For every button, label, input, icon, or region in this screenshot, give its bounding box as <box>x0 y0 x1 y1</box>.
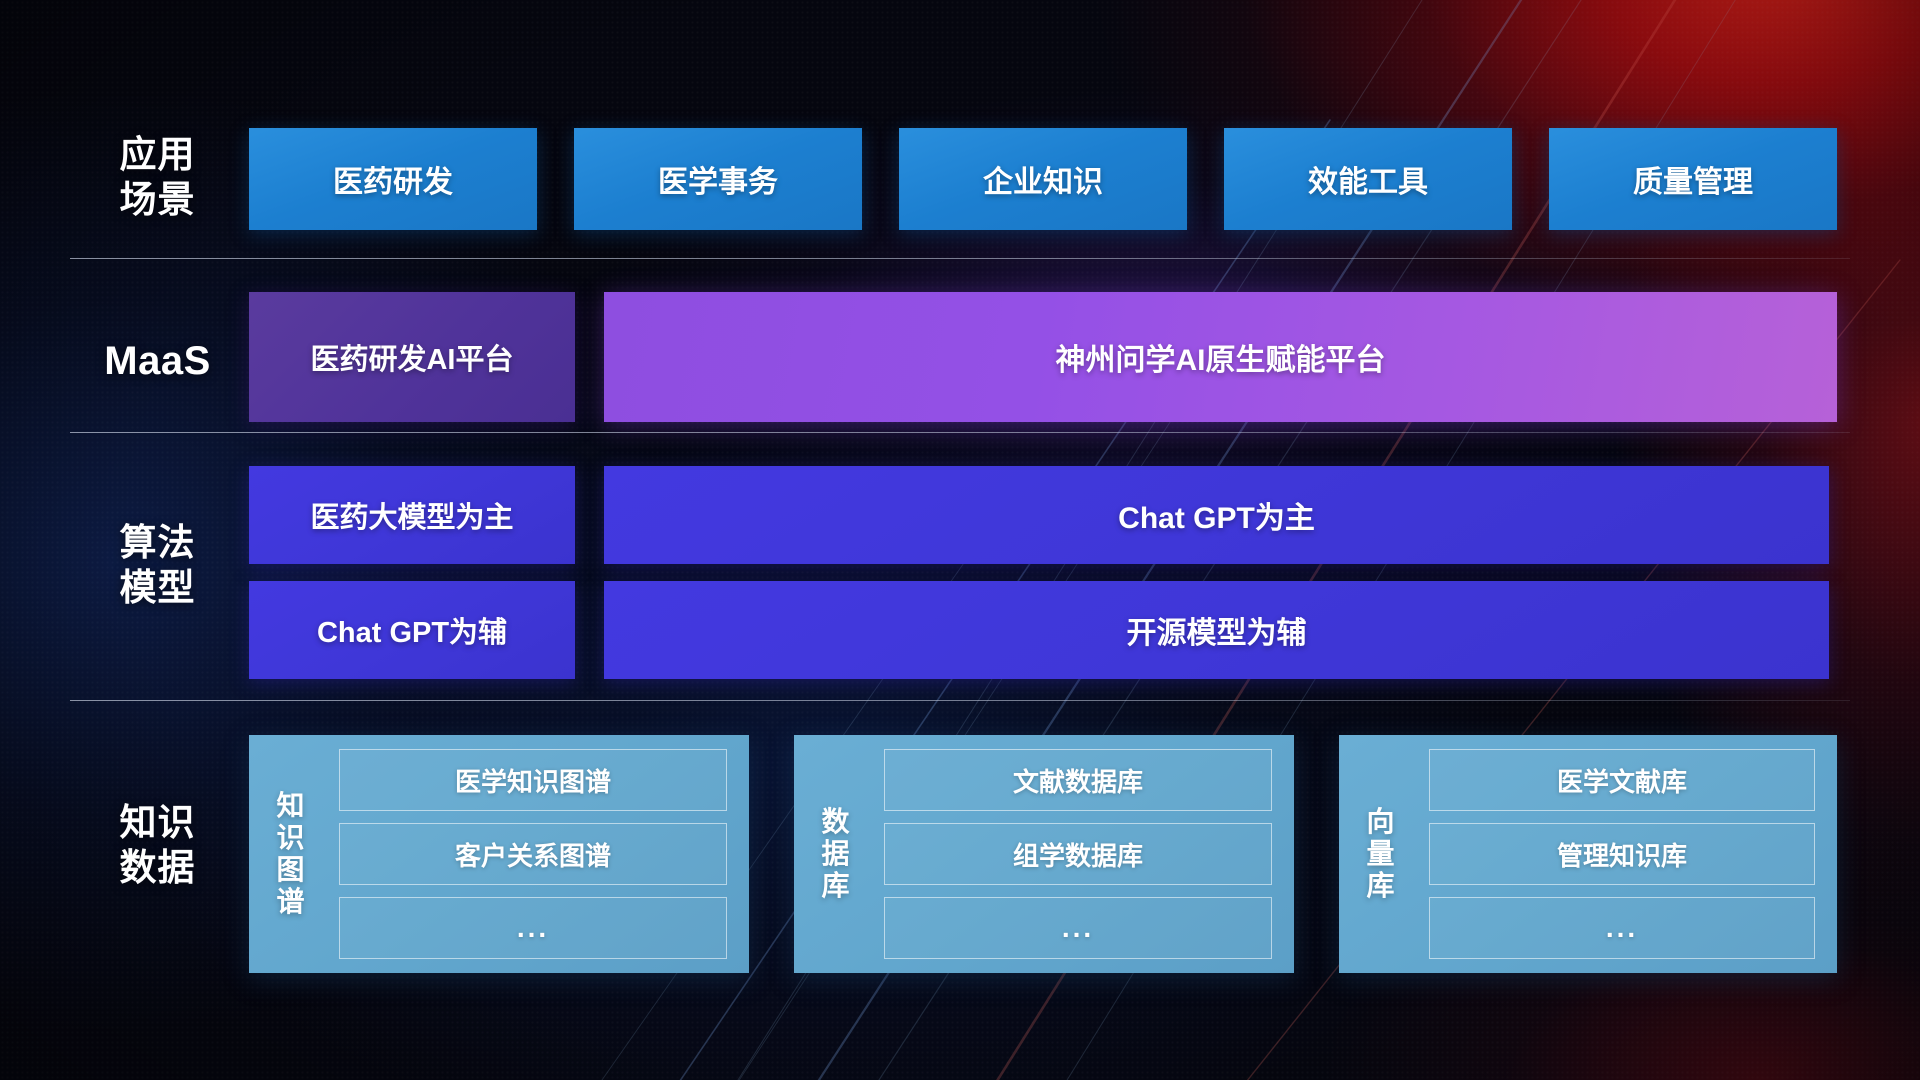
knowledge-items-knowledge-graph: 医学知识图谱 客户关系图谱 ... <box>333 735 749 973</box>
maas-box-pharma-ai-platform[interactable]: 医药研发AI平台 <box>249 292 575 422</box>
app-box-enterprise-knowledge[interactable]: 企业知识 <box>899 128 1187 230</box>
knowledge-group-label-knowledge-graph: 知识图谱 <box>249 790 333 918</box>
row-label-maas: MaaS <box>70 337 245 386</box>
app-box-quality-management[interactable]: 质量管理 <box>1549 128 1837 230</box>
knowledge-item-literature-database[interactable]: 文献数据库 <box>884 749 1272 811</box>
row-label-knowledge-data: 知识 数据 <box>70 800 245 890</box>
algo-box-pharma-large-model-primary[interactable]: 医药大模型为主 <box>249 466 575 564</box>
row-label-algorithm-model: 算法 模型 <box>70 520 245 610</box>
knowledge-items-database: 文献数据库 组学数据库 ... <box>878 735 1294 973</box>
row-label-algorithm-line1: 算法 <box>70 520 245 565</box>
knowledge-item-medical-knowledge-graph[interactable]: 医学知识图谱 <box>339 749 727 811</box>
app-box-efficiency-tools[interactable]: 效能工具 <box>1224 128 1512 230</box>
algo-box-chatgpt-secondary[interactable]: Chat GPT为辅 <box>249 581 575 679</box>
knowledge-group-database[interactable]: 数据库 文献数据库 组学数据库 ... <box>794 735 1294 973</box>
knowledge-group-label-database: 数据库 <box>794 806 878 902</box>
row-label-application-scenarios: 应用 场景 <box>70 132 245 222</box>
divider-maas-algorithm <box>70 432 1850 433</box>
knowledge-item-more-database[interactable]: ... <box>884 897 1272 959</box>
divider-application-maas <box>70 258 1850 259</box>
row-label-knowledge-line2: 数据 <box>70 845 245 890</box>
knowledge-item-management-knowledge-store[interactable]: 管理知识库 <box>1429 823 1815 885</box>
maas-box-shenzhou-wenxue-platform[interactable]: 神州问学AI原生赋能平台 <box>604 292 1837 422</box>
knowledge-group-vector-store[interactable]: 向量库 医学文献库 管理知识库 ... <box>1339 735 1837 973</box>
knowledge-group-label-vector-store: 向量库 <box>1339 806 1423 902</box>
app-box-pharma-rnd[interactable]: 医药研发 <box>249 128 537 230</box>
architecture-diagram: 应用 场景 医药研发 医学事务 企业知识 效能工具 质量管理 MaaS 医药研发… <box>0 0 1920 1080</box>
knowledge-item-omics-database[interactable]: 组学数据库 <box>884 823 1272 885</box>
knowledge-item-customer-relation-graph[interactable]: 客户关系图谱 <box>339 823 727 885</box>
knowledge-items-vector-store: 医学文献库 管理知识库 ... <box>1423 735 1837 973</box>
knowledge-group-knowledge-graph[interactable]: 知识图谱 医学知识图谱 客户关系图谱 ... <box>249 735 749 973</box>
row-label-application-line1: 应用 <box>70 132 245 177</box>
app-box-medical-affairs[interactable]: 医学事务 <box>574 128 862 230</box>
row-label-algorithm-line2: 模型 <box>70 565 245 610</box>
row-label-application-line2: 场景 <box>70 177 245 222</box>
algo-box-chatgpt-primary[interactable]: Chat GPT为主 <box>604 466 1829 564</box>
row-label-knowledge-line1: 知识 <box>70 800 245 845</box>
knowledge-item-more-vector-store[interactable]: ... <box>1429 897 1815 959</box>
knowledge-item-medical-literature-store[interactable]: 医学文献库 <box>1429 749 1815 811</box>
divider-algorithm-knowledge <box>70 700 1850 701</box>
algo-box-opensource-model-secondary[interactable]: 开源模型为辅 <box>604 581 1829 679</box>
knowledge-item-more-knowledge-graph[interactable]: ... <box>339 897 727 959</box>
